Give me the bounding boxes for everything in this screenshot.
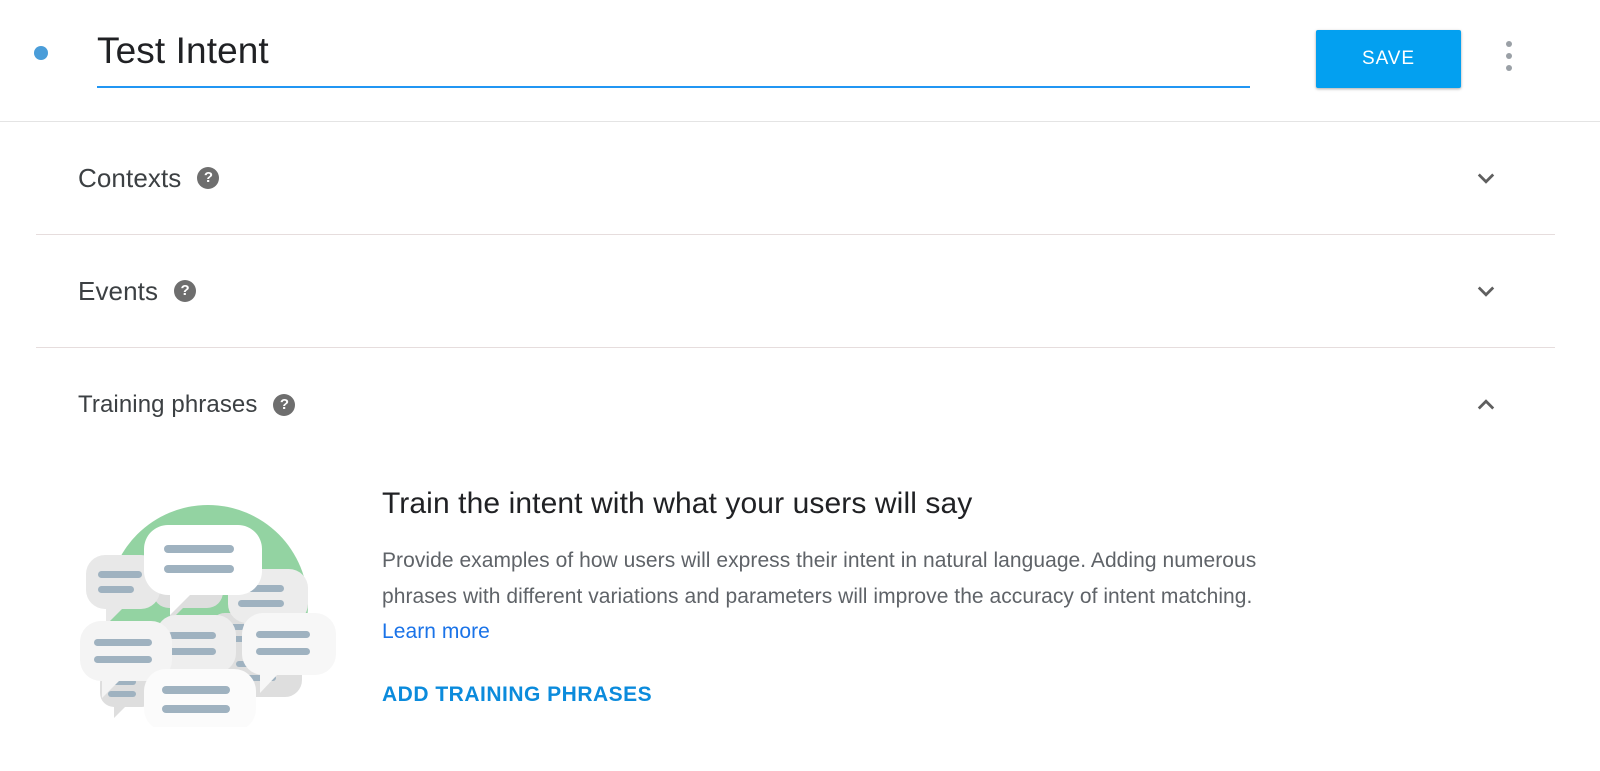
intent-name-input[interactable]	[97, 26, 1250, 76]
kebab-dot-2	[1506, 53, 1512, 59]
section-header-contexts[interactable]: Contexts ?	[36, 122, 1555, 235]
save-button[interactable]: SAVE	[1316, 30, 1461, 88]
training-phrases-description: Provide examples of how users will expre…	[382, 543, 1267, 650]
chevron-down-icon[interactable]	[1471, 276, 1501, 306]
intent-header: SAVE	[0, 0, 1600, 122]
intent-title-field[interactable]	[97, 26, 1250, 88]
more-vert-icon[interactable]	[1500, 36, 1518, 76]
intent-title-underline	[97, 86, 1250, 88]
training-phrases-heading: Train the intent with what your users wi…	[382, 487, 1267, 521]
chat-bubbles-illustration	[78, 487, 338, 727]
chevron-up-icon[interactable]	[1471, 390, 1501, 420]
learn-more-link[interactable]: Learn more	[382, 620, 490, 643]
help-circle-icon[interactable]: ?	[174, 280, 196, 302]
training-phrases-empty-state: Train the intent with what your users wi…	[0, 479, 1600, 719]
chevron-down-icon[interactable]	[1471, 163, 1501, 193]
section-header-training-phrases[interactable]: Training phrases ?	[36, 348, 1555, 461]
section-title-events: Events	[78, 276, 158, 307]
section-header-events[interactable]: Events ?	[36, 235, 1555, 348]
kebab-dot-1	[1506, 41, 1512, 47]
description-text: Provide examples of how users will expre…	[382, 549, 1256, 608]
help-circle-icon[interactable]: ?	[273, 394, 295, 416]
contexts-label-group: Contexts ?	[78, 163, 219, 194]
section-title-contexts: Contexts	[78, 163, 181, 194]
training-phrases-copy: Train the intent with what your users wi…	[382, 479, 1267, 719]
training-phrases-label-group: Training phrases ?	[78, 391, 295, 419]
section-title-training-phrases: Training phrases	[78, 391, 257, 419]
events-label-group: Events ?	[78, 276, 196, 307]
intent-status-dot	[34, 46, 48, 60]
kebab-dot-3	[1506, 65, 1512, 71]
help-circle-icon[interactable]: ?	[197, 167, 219, 189]
add-training-phrases-button[interactable]: ADD TRAINING PHRASES	[382, 683, 652, 707]
